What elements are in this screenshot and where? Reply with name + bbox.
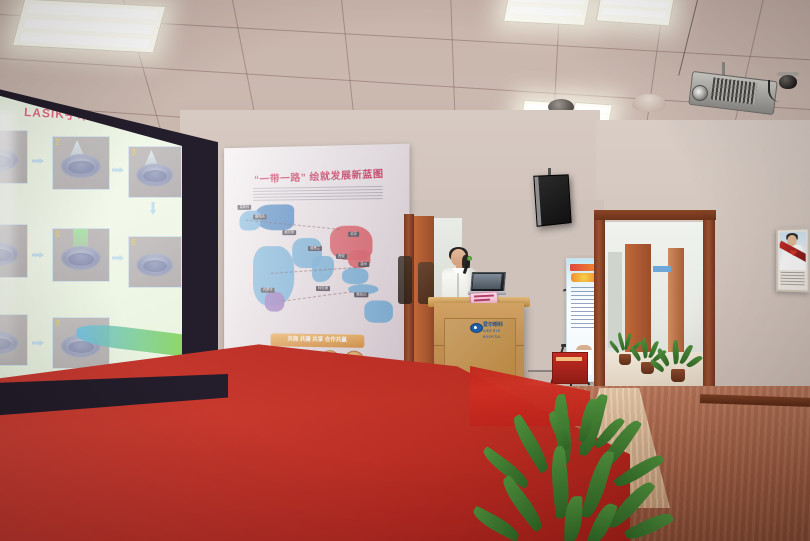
speaker-edge xyxy=(534,177,541,226)
potted-plant xyxy=(634,338,660,378)
potted-plant xyxy=(660,340,694,386)
room-photo: LASIK手术示意图 1 2 3 xyxy=(0,0,810,541)
step-number: 5 xyxy=(55,229,60,239)
poster-caption-text xyxy=(781,272,805,287)
logo-text: 爱尔眼科 AIER EYE HOSPITAL xyxy=(483,322,514,340)
right-doorway-header xyxy=(594,210,716,220)
step-number: 8 xyxy=(55,318,60,328)
red-box-label xyxy=(556,357,582,361)
step-number: 2 xyxy=(55,137,60,147)
step-number: 3 xyxy=(131,147,136,157)
wall-framed-poster xyxy=(776,227,810,292)
chair-behind-podium xyxy=(398,256,412,304)
wall-speaker xyxy=(533,174,571,227)
microphone-head xyxy=(467,256,472,261)
ceiling-speaker xyxy=(632,94,666,112)
right-doorway-frame xyxy=(703,214,715,404)
potted-plant-secondary xyxy=(556,398,626,468)
logo-subname: AIER EYE HOSPITAL xyxy=(483,328,514,340)
eye-icon xyxy=(470,323,483,333)
fluorescent-light xyxy=(12,0,167,53)
fluorescent-light xyxy=(503,0,591,26)
step-number: 6 xyxy=(131,237,136,247)
lasik-step: 2 xyxy=(52,136,110,190)
poster-image xyxy=(780,232,806,271)
lasik-step: 5 xyxy=(52,228,110,282)
lasik-step: 3 xyxy=(128,146,182,198)
hospital-logo: 爱尔眼科 AIER EYE HOSPITAL xyxy=(470,322,514,334)
dome-camera xyxy=(777,72,799,92)
corridor-sign xyxy=(653,266,671,272)
lasik-step: 6 xyxy=(128,236,182,288)
ceiling-projector xyxy=(690,76,774,120)
laptop-screen xyxy=(472,274,501,289)
projector-lens xyxy=(692,85,708,101)
right-doorway-frame xyxy=(594,218,605,400)
screen-glare xyxy=(0,110,14,360)
red-display-box xyxy=(552,352,588,384)
